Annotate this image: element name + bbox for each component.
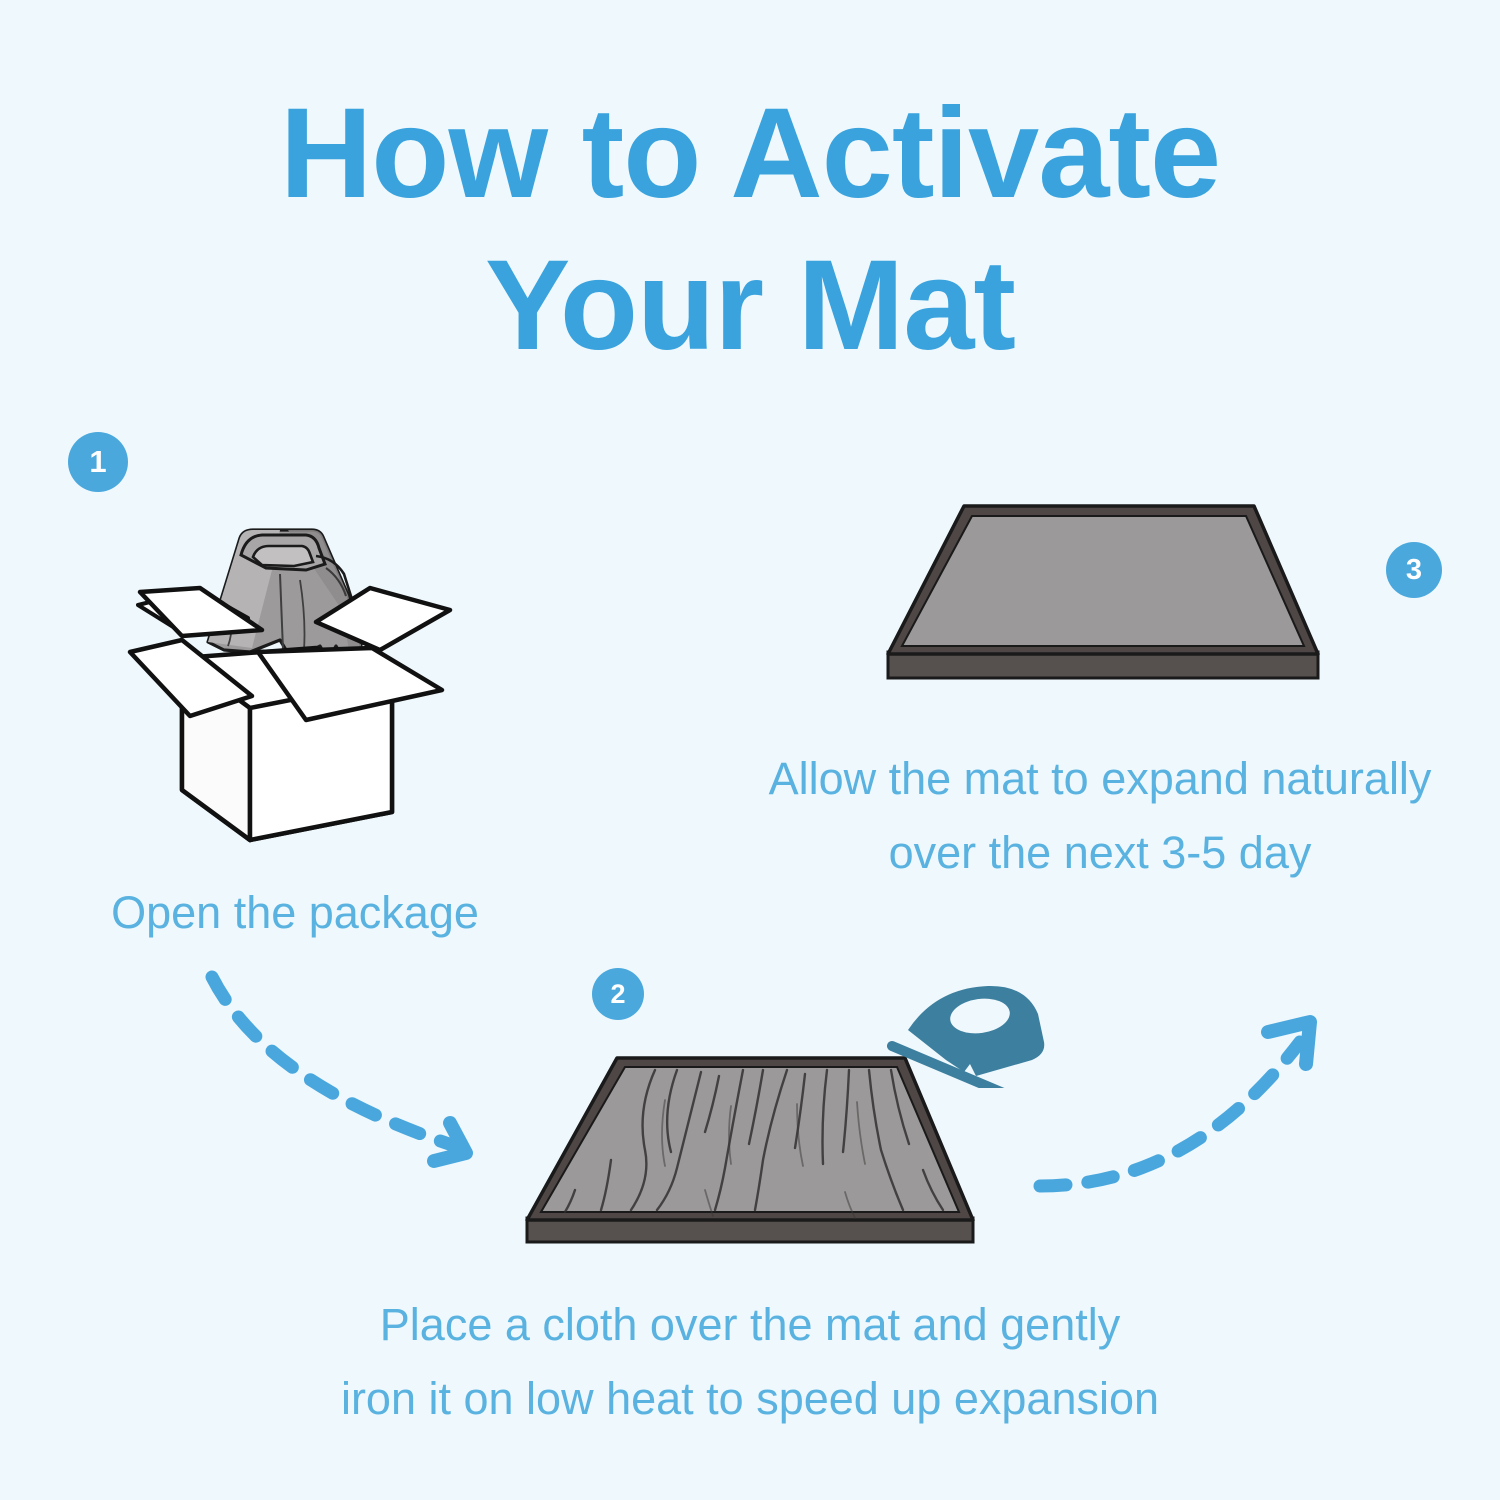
step-badge-2-number: 2 bbox=[610, 979, 625, 1010]
dashed-curved-arrow-up-right-icon bbox=[1000, 990, 1350, 1225]
step-1-caption: Open the package bbox=[60, 876, 530, 950]
step-2-caption: Place a cloth over the mat and gently ir… bbox=[250, 1288, 1250, 1436]
step-badge-1: 1 bbox=[68, 432, 128, 492]
page-title-line-2: Your Mat bbox=[0, 230, 1500, 382]
step-3-caption-line-1: Allow the mat to expand naturally bbox=[769, 753, 1432, 804]
flat-mat-illustration bbox=[866, 492, 1336, 692]
step-3-caption-line-2: over the next 3-5 day bbox=[889, 827, 1312, 878]
step-2-caption-line-1: Place a cloth over the mat and gently bbox=[380, 1299, 1120, 1350]
page-title-line-1: How to Activate bbox=[0, 78, 1500, 230]
step-badge-2: 2 bbox=[592, 968, 644, 1020]
step-badge-1-number: 1 bbox=[89, 444, 106, 480]
step-3-caption: Allow the mat to expand naturally over t… bbox=[700, 742, 1500, 890]
flat-mat-surface bbox=[902, 516, 1304, 646]
step-badge-3-number: 3 bbox=[1406, 554, 1422, 587]
page-title: How to Activate Your Mat bbox=[0, 78, 1500, 382]
dashed-curved-arrow-down-right-icon bbox=[170, 955, 515, 1210]
step-badge-3: 3 bbox=[1386, 542, 1442, 598]
flat-mat-side-edge bbox=[888, 652, 1318, 678]
infographic-page: How to Activate Your Mat 1 bbox=[0, 0, 1500, 1500]
step-1-caption-text: Open the package bbox=[111, 887, 479, 938]
open-package-box-icon bbox=[120, 500, 480, 860]
step-2-caption-line-2: iron it on low heat to speed up expansio… bbox=[341, 1373, 1159, 1424]
